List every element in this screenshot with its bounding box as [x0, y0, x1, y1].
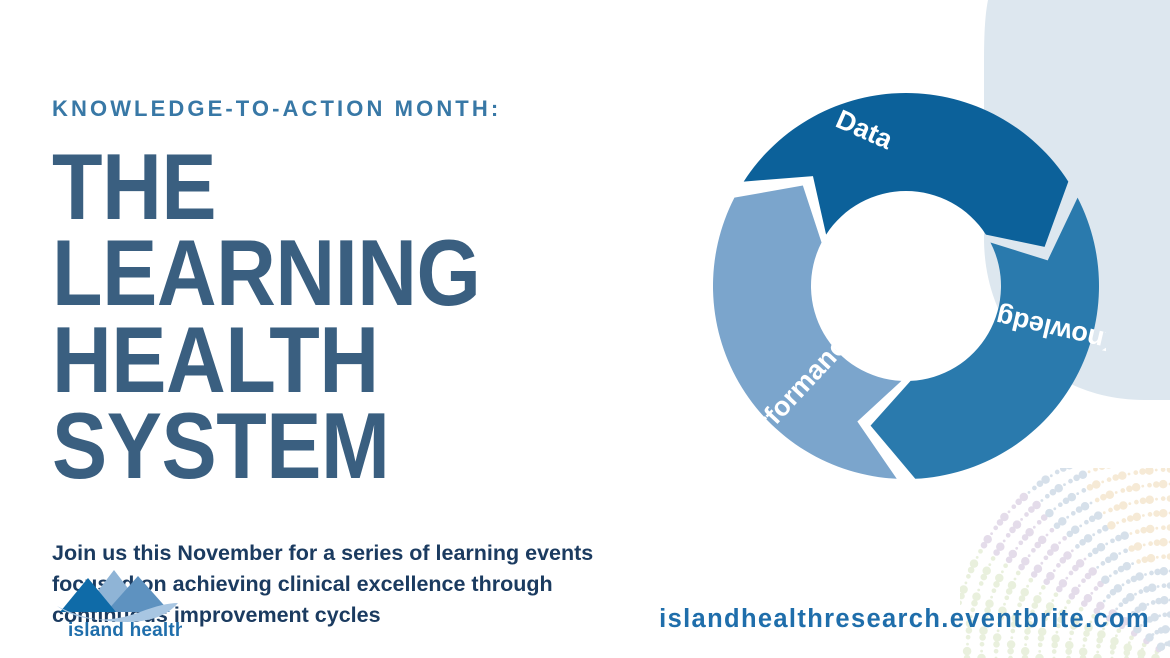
decorative-dot [1078, 584, 1081, 587]
decorative-dot [1051, 543, 1060, 552]
decorative-dot [1145, 496, 1154, 505]
logo-wordmark: island health [68, 620, 182, 640]
decorative-dot [1053, 569, 1056, 572]
decorative-dot [976, 556, 979, 559]
decorative-dot [966, 574, 971, 579]
decorative-dot [1128, 641, 1131, 644]
decorative-dot [981, 542, 988, 549]
decorative-dot [977, 654, 986, 658]
decorative-dot [1034, 542, 1041, 549]
decorative-dot [1160, 567, 1169, 576]
decorative-dot [1094, 511, 1103, 519]
page-title: The Learning Health System [52, 120, 633, 490]
decorative-dot [997, 519, 1004, 526]
decorative-dot [983, 535, 992, 544]
decorative-dot [1106, 491, 1115, 500]
decorative-dot [1164, 642, 1169, 647]
decorative-dot [1076, 492, 1079, 495]
decorative-dot [1119, 501, 1128, 510]
decorative-dot [1006, 588, 1013, 595]
decorative-dot [1026, 585, 1029, 588]
decorative-dot [1157, 642, 1166, 651]
decorative-dot [1155, 646, 1162, 653]
decorative-dot [1037, 520, 1042, 525]
decorative-dot [1110, 552, 1119, 561]
decorative-dot [1110, 650, 1115, 655]
decorative-dot [1096, 644, 1101, 649]
decorative-dot [1007, 648, 1014, 655]
decorative-dot [1011, 504, 1016, 509]
decorative-dot [995, 574, 1004, 583]
decorative-dot [978, 549, 983, 554]
decorative-dot [993, 581, 1000, 588]
decorative-dot [1066, 516, 1069, 519]
decorative-dot [1155, 498, 1158, 501]
decorative-dot [1122, 598, 1129, 605]
decorative-dot [1152, 633, 1155, 636]
decorative-dot [1058, 541, 1061, 544]
decorative-dot [1041, 585, 1046, 590]
decorative-dot [966, 643, 969, 646]
decorative-dot [1162, 644, 1165, 647]
decorative-dot [1059, 579, 1068, 588]
decorative-dot [1020, 518, 1023, 521]
decorative-dot [1110, 538, 1115, 543]
decorative-dot [1161, 496, 1166, 501]
decorative-dot [1122, 583, 1125, 586]
decorative-dot [1038, 642, 1043, 647]
decorative-dot [1075, 544, 1080, 549]
decorative-dot [1041, 514, 1048, 521]
decorative-dot [1016, 571, 1021, 576]
decorative-dot [1092, 548, 1099, 555]
decorative-dot [960, 593, 965, 600]
decorative-dot [979, 581, 984, 586]
decorative-dot [1148, 583, 1157, 592]
decorative-dot [965, 582, 968, 585]
decorative-dot [1128, 473, 1131, 476]
decorative-dot [1038, 635, 1045, 642]
decorative-dot [1051, 634, 1060, 643]
decorative-dot [1141, 648, 1144, 651]
decorative-dot [994, 649, 999, 654]
eyebrow-text: Knowledge-to-Action Month: [52, 0, 712, 120]
decorative-dot [1150, 613, 1159, 622]
decorative-dot [1006, 557, 1013, 564]
decorative-dot [1139, 589, 1144, 594]
decorative-dot [1112, 474, 1119, 481]
decorative-dot [1093, 654, 1102, 658]
decorative-dot [977, 589, 980, 592]
decorative-dot [1044, 555, 1049, 560]
decorative-dot [1045, 509, 1054, 517]
decorative-dot [1131, 576, 1138, 583]
decorative-dot [1050, 489, 1057, 496]
decorative-dot [1115, 634, 1118, 637]
decorative-dot [1096, 651, 1099, 654]
decorative-dot [1153, 481, 1160, 488]
decorative-dot [1115, 535, 1122, 542]
decorative-dot [1084, 594, 1093, 603]
decorative-dot [1110, 637, 1119, 646]
decorative-dot [1058, 517, 1067, 526]
decorative-dot [1107, 477, 1112, 482]
decorative-dot [1140, 498, 1147, 505]
decorative-dot [1079, 525, 1082, 528]
decorative-dot [1028, 491, 1031, 494]
decorative-dot [990, 596, 993, 599]
decorative-dot [1110, 643, 1117, 650]
decorative-dot [1097, 581, 1104, 588]
decorative-dot [1072, 565, 1079, 572]
decorative-dot [1161, 525, 1166, 530]
decorative-dot [982, 567, 991, 576]
decorative-dot [1031, 548, 1036, 553]
decorative-dot [1081, 502, 1090, 511]
decorative-dot [1134, 593, 1137, 596]
decorative-dot [993, 633, 1002, 642]
decorative-dot [1062, 536, 1067, 541]
decorative-dot [993, 526, 998, 531]
decorative-dot [980, 642, 985, 647]
decorative-dot [1081, 578, 1086, 583]
decorative-dot [1122, 518, 1127, 523]
decorative-dot [1090, 592, 1093, 595]
learning-health-system-cycle: Data Knowledge Performance [706, 86, 1106, 486]
decorative-dot [1135, 572, 1144, 581]
decorative-dot [1050, 528, 1055, 533]
decorative-dot [1140, 527, 1147, 534]
decorative-dot [1132, 483, 1141, 492]
decorative-dot [1123, 562, 1132, 571]
decorative-dot [1101, 576, 1110, 585]
decorative-dot [1147, 554, 1156, 563]
decorative-dot [1084, 558, 1087, 561]
decorative-dot [1004, 595, 1009, 600]
decorative-dot [981, 574, 988, 581]
decorative-dot [1021, 647, 1029, 656]
decorative-dot [1069, 593, 1076, 600]
decorative-dot [1039, 592, 1042, 595]
decorative-dot [1124, 650, 1131, 657]
decorative-dot [1022, 534, 1029, 541]
decorative-dot [1028, 506, 1035, 513]
decorative-dot [1052, 649, 1057, 654]
decorative-dot [979, 634, 986, 641]
decorative-dot [1133, 513, 1142, 522]
decorative-dot [1128, 502, 1131, 505]
decorative-dot [1034, 564, 1043, 573]
decorative-dot [1158, 614, 1161, 617]
decorative-dot [993, 549, 1000, 556]
decorative-dot [1143, 544, 1146, 547]
mountain-icon [60, 570, 170, 612]
decorative-dot [963, 647, 972, 656]
decorative-dot [1113, 570, 1118, 575]
decorative-dot [1000, 513, 1009, 522]
decorative-dot [1001, 570, 1004, 573]
decorative-dot [1028, 554, 1031, 557]
decorative-dot [1148, 541, 1153, 546]
decorative-dot [1071, 549, 1074, 552]
decorative-dot [1120, 531, 1129, 540]
decorative-dot [1129, 635, 1134, 640]
decorative-dot [1033, 595, 1042, 604]
decorative-dot [1056, 563, 1061, 568]
decorative-dot [1127, 515, 1134, 522]
decorative-dot [1120, 488, 1125, 493]
decorative-dot [1154, 630, 1159, 635]
decorative-dot [1160, 596, 1169, 605]
decorative-dot [1133, 470, 1138, 475]
decorative-dot [1149, 571, 1154, 576]
decorative-dot [1103, 511, 1106, 514]
decorative-dot [980, 650, 983, 653]
decorative-dot [970, 559, 979, 568]
decorative-dot [1116, 521, 1119, 524]
decorative-dot [988, 563, 991, 566]
decorative-dot [1015, 499, 1022, 506]
decorative-dot [1159, 480, 1168, 489]
decorative-dot [1069, 638, 1072, 641]
decorative-dot [1115, 491, 1118, 494]
decorative-dot [1142, 556, 1149, 563]
decorative-dot [1151, 654, 1160, 658]
decorative-dot [1020, 588, 1028, 597]
decorative-dot [1060, 557, 1067, 564]
decorative-dot [1159, 538, 1168, 547]
decorative-dot [1024, 636, 1029, 641]
decorative-dot [1066, 600, 1071, 605]
decorative-dot [1068, 493, 1077, 502]
decorative-dot [1008, 581, 1017, 590]
decorative-dot [1043, 578, 1050, 585]
decorative-dot [1089, 516, 1096, 523]
decorative-dot [1038, 536, 1047, 545]
decorative-dot [1096, 637, 1103, 644]
decorative-dot [1015, 547, 1018, 550]
decorative-dot [1151, 600, 1156, 605]
decorative-dot [1047, 549, 1054, 556]
decorative-dot [1051, 642, 1058, 649]
decorative-dot [1095, 498, 1100, 503]
decorative-dot [1051, 599, 1054, 602]
decorative-dot [1155, 469, 1158, 472]
decorative-dot [1085, 573, 1092, 580]
decorative-dot [1081, 488, 1086, 493]
decorative-dot [1154, 539, 1161, 546]
decorative-dot [1088, 567, 1097, 576]
decorative-dot [1038, 650, 1041, 653]
decorative-dot [1114, 504, 1121, 511]
decorative-dot [1019, 595, 1026, 602]
decorative-dot [1108, 508, 1113, 513]
decorative-dot [1118, 566, 1125, 573]
decorative-dot [1065, 648, 1072, 655]
decorative-dot [1097, 543, 1106, 552]
decorative-dot [1090, 502, 1093, 505]
decorative-dot [1009, 527, 1016, 534]
decorative-dot [1092, 533, 1095, 536]
decorative-dot [1035, 654, 1044, 658]
decorative-dot [968, 567, 975, 574]
decorative-dot [990, 532, 993, 535]
decorative-dot [1071, 511, 1076, 516]
decorative-dot [1157, 585, 1160, 588]
decorative-dot [1071, 526, 1080, 535]
decorative-dot [1021, 557, 1030, 566]
decorative-dot [1024, 643, 1027, 646]
decorative-dot [1143, 586, 1150, 593]
decorative-dot [1065, 641, 1074, 650]
decorative-dot [1139, 468, 1146, 475]
decorative-dot [1126, 579, 1131, 584]
decorative-dot [1118, 471, 1127, 480]
decorative-dot [1076, 506, 1083, 513]
decorative-dot [1134, 500, 1139, 505]
decorative-dot [1126, 486, 1133, 493]
decorative-dot [1106, 594, 1111, 599]
decorative-dot [1137, 649, 1146, 658]
decorative-dot [1046, 572, 1055, 581]
decorative-dot [1008, 510, 1011, 513]
decorative-dot [1162, 612, 1167, 617]
decorative-dot [1110, 589, 1117, 596]
decorative-dot [1084, 520, 1089, 525]
decorative-dot [1118, 552, 1121, 555]
decorative-dot [1134, 542, 1143, 551]
decorative-dot [1102, 525, 1109, 532]
decorative-dot [1123, 548, 1128, 553]
decorative-dot [1144, 573, 1147, 576]
decorative-dot [1084, 534, 1093, 543]
decorative-dot [1014, 578, 1017, 581]
decorative-dot [1083, 637, 1088, 642]
decorative-dot [996, 542, 1005, 551]
decorative-dot [1069, 571, 1074, 576]
decorative-dot [1124, 643, 1133, 652]
decorative-dot [1148, 512, 1153, 517]
decorative-dot [1006, 533, 1011, 538]
decorative-dot [1053, 507, 1056, 510]
decorative-dot [1128, 545, 1135, 552]
decorative-dot [1107, 521, 1116, 530]
decorative-dot [1155, 649, 1160, 654]
decorative-dot [1054, 522, 1061, 529]
decorative-dot [1088, 552, 1093, 557]
decorative-dot [1141, 485, 1144, 488]
decorative-dot [1146, 525, 1155, 534]
decorative-dot [1018, 564, 1025, 571]
decorative-dot [1025, 528, 1034, 537]
decorative-dot [1156, 556, 1159, 559]
decorative-dot [1103, 600, 1106, 603]
decorative-dot [1159, 509, 1168, 518]
decorative-dot [1003, 540, 1006, 543]
decorative-dot [1063, 498, 1070, 505]
decorative-dot [1114, 584, 1123, 593]
decorative-dot [1013, 520, 1022, 529]
decorative-dot [1131, 562, 1134, 565]
decorative-dot [1063, 551, 1072, 560]
decorative-dot [1154, 569, 1161, 576]
decorative-dot [1109, 575, 1112, 578]
decorative-dot [1155, 653, 1158, 656]
decorative-dot [1018, 540, 1023, 545]
decorative-dot [1020, 493, 1029, 502]
decorative-dot [1032, 501, 1041, 510]
decorative-dot [960, 585, 968, 594]
event-url[interactable]: islandhealthresearch.eventbrite.com [659, 605, 1150, 634]
decorative-dot [1079, 539, 1086, 546]
decorative-dot [1076, 559, 1085, 568]
decorative-dot [1158, 627, 1165, 634]
decorative-dot [1071, 587, 1080, 596]
decorative-dot [1161, 468, 1166, 472]
decorative-dot [1147, 483, 1152, 488]
decorative-dot [1136, 559, 1141, 564]
decorative-dot [1065, 577, 1068, 580]
decorative-dot [1007, 640, 1016, 649]
decorative-dot [1161, 554, 1166, 559]
decorative-dot [1142, 642, 1147, 647]
decorative-dot [1067, 531, 1074, 538]
decorative-dot [966, 635, 971, 640]
decorative-dot [1105, 557, 1112, 564]
decorative-dot [1010, 636, 1013, 639]
decorative-dot [1032, 486, 1037, 491]
decorative-dot [1100, 494, 1107, 501]
decorative-dot [1105, 543, 1108, 546]
decorative-dot [972, 592, 981, 601]
decorative-dot [1142, 514, 1145, 517]
decorative-dot [991, 556, 996, 561]
decorative-dot [1009, 550, 1018, 559]
decorative-dot [1094, 586, 1099, 591]
decorative-dot [1143, 638, 1150, 645]
decorative-dot [1161, 625, 1170, 634]
decorative-dot [1153, 510, 1160, 517]
decorative-dot [1162, 583, 1167, 588]
decorative-dot [1031, 571, 1038, 578]
decorative-dot [1083, 644, 1086, 647]
decorative-dot [1130, 532, 1133, 535]
decorative-dot [1058, 502, 1063, 507]
decorative-dot [1033, 526, 1036, 529]
decorative-dot [1079, 648, 1088, 657]
decorative-dot [1096, 566, 1099, 569]
decorative-dot [1046, 534, 1049, 537]
decorative-dot [1028, 578, 1033, 583]
decorative-dot [1041, 499, 1044, 502]
poster-canvas: Knowledge-to-Action Month: The Learning … [0, 0, 1170, 658]
decorative-dot [992, 588, 997, 593]
decorative-dot [1126, 593, 1135, 602]
decorative-dot [1155, 527, 1158, 530]
decorative-dot [1054, 592, 1059, 597]
decorative-dot [993, 641, 1000, 648]
island-health-logo: island health [52, 562, 182, 640]
decorative-dot [1056, 586, 1063, 593]
decorative-dot [1145, 468, 1154, 475]
decorative-dot [1145, 633, 1154, 642]
decorative-dot [1101, 561, 1106, 566]
decorative-dot [1040, 562, 1043, 565]
decorative-dot [1097, 529, 1102, 534]
decorative-dot [1024, 512, 1029, 517]
text-column: Knowledge-to-Action Month: The Learning … [52, 0, 712, 631]
decorative-dot [1003, 563, 1008, 568]
